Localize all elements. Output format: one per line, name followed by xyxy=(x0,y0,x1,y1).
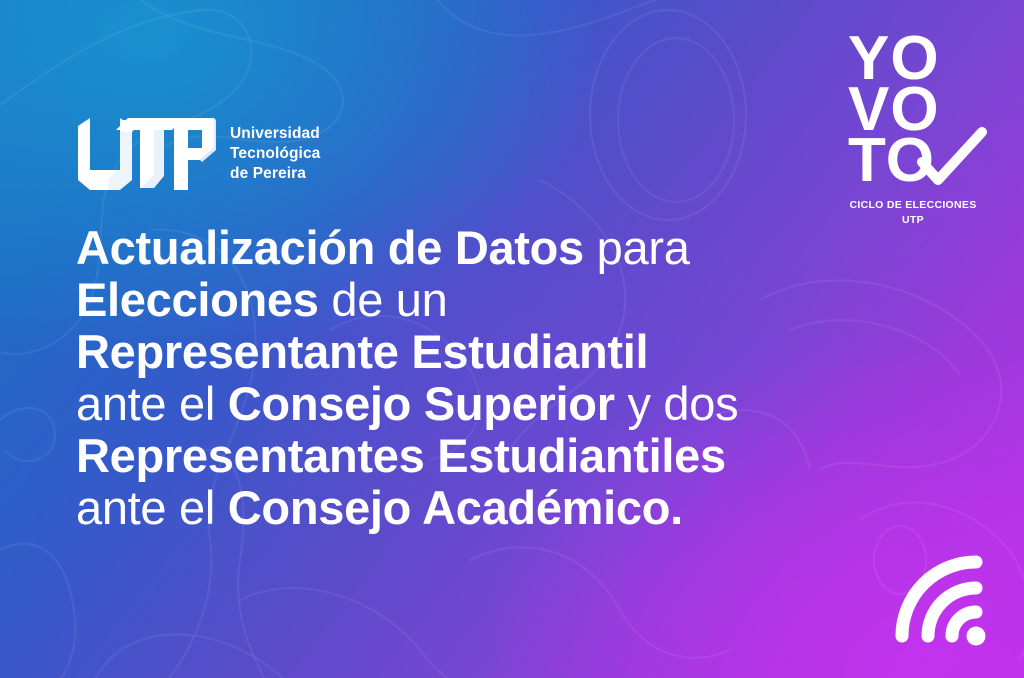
headline-line-6-lead: ante el xyxy=(76,481,228,534)
headline-line-4-lead: ante el xyxy=(76,377,228,430)
wifi-signal-icon xyxy=(884,544,996,648)
wifi-dot xyxy=(967,627,986,646)
utp-word-line-2: Tecnológica xyxy=(230,144,320,164)
yo-voto-stack: YO VO TO xyxy=(840,34,986,186)
headline-line-3: Representante Estudiantil xyxy=(76,326,896,378)
yo-voto-line-3: TO xyxy=(840,136,986,187)
utp-logo: Universidad Tecnológica de Pereira xyxy=(76,118,320,190)
utp-word-line-1: Universidad xyxy=(230,124,320,144)
headline-line-2-bold: Elecciones xyxy=(76,273,319,326)
headline-line-6: ante el Consejo Académico. xyxy=(76,482,896,534)
utp-monogram-icon xyxy=(76,118,216,190)
yo-voto-sublabel-line-1: CICLO DE ELECCIONES xyxy=(849,199,976,211)
headline: Actualización de Datos para Elecciones d… xyxy=(76,222,896,534)
headline-line-5: Representantes Estudiantiles xyxy=(76,430,896,482)
headline-line-5-bold: Representantes Estudiantiles xyxy=(76,429,726,482)
utp-wordmark: Universidad Tecnológica de Pereira xyxy=(230,124,320,183)
poster-canvas: Universidad Tecnológica de Pereira YO VO… xyxy=(0,0,1024,678)
headline-line-3-bold: Representante Estudiantil xyxy=(76,325,648,378)
yo-voto-logo: YO VO TO CICLO DE ELECCIONES UTP xyxy=(828,34,998,227)
headline-line-2-normal: de un xyxy=(319,273,448,326)
headline-line-4-normal: y dos xyxy=(615,377,739,430)
headline-line-1: Actualización de Datos para xyxy=(76,222,896,274)
headline-line-2: Elecciones de un xyxy=(76,274,896,326)
headline-line-4-bold: Consejo Superior xyxy=(228,377,615,430)
headline-line-4: ante el Consejo Superior y dos xyxy=(76,378,896,430)
utp-word-line-3: de Pereira xyxy=(230,164,320,184)
headline-line-6-bold: Consejo Académico. xyxy=(228,481,683,534)
headline-line-1-bold: Actualización de Datos xyxy=(76,221,584,274)
headline-line-1-normal: para xyxy=(584,221,690,274)
